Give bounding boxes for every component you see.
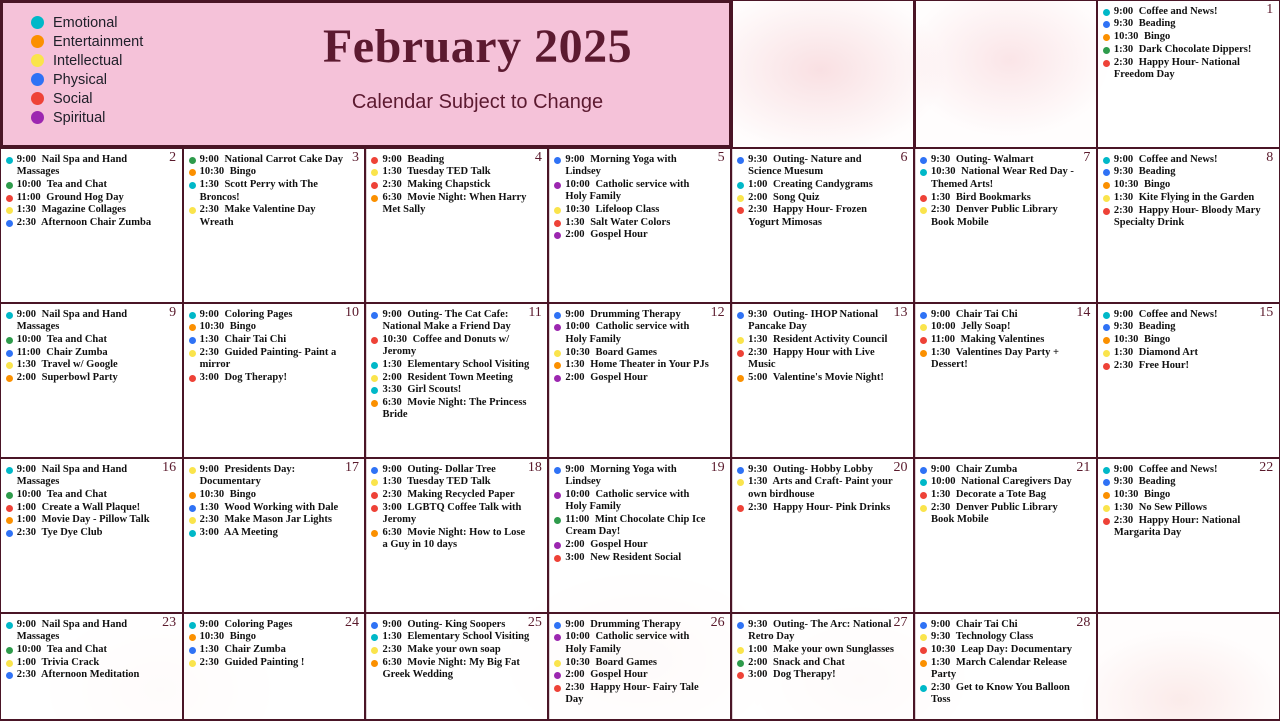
event-category-dot-icon: [1103, 208, 1110, 215]
calendar-event[interactable]: 2:30 Happy Hour- Pink Drinks: [736, 502, 909, 514]
calendar-day-cell[interactable]: 89:00 Coffee and News!9:30 Beading10:30 …: [1096, 147, 1280, 305]
event-time: 1:30: [200, 334, 219, 345]
calendar-event[interactable]: 1:30 Kite Flying in the Garden: [1102, 192, 1275, 204]
event-text: 2:30 Happy Hour: National Margarita Day: [1114, 515, 1261, 540]
calendar-day-cell[interactable]: 159:00 Coffee and News!9:30 Beading10:30…: [1096, 302, 1280, 460]
event-category-dot-icon: [371, 400, 378, 407]
calendar-day-cell[interactable]: 229:00 Coffee and News!9:30 Beading10:30…: [1096, 457, 1280, 615]
calendar-event[interactable]: 2:30 Make Mason Jar Lights: [188, 514, 361, 526]
calendar-event[interactable]: 2:30 Get to Know You Balloon Toss: [919, 682, 1092, 707]
calendar-day-cell[interactable]: 119:00 Outing- The Cat Cafe: National Ma…: [364, 302, 549, 460]
calendar-event[interactable]: 9:00 Coloring Pages: [188, 309, 361, 321]
event-title: Making Valentines: [961, 334, 1045, 345]
calendar-event[interactable]: 1:00 Creating Candygrams: [736, 179, 909, 191]
calendar-event[interactable]: 9:00 Drumming Therapy: [553, 309, 726, 321]
calendar-event[interactable]: 9:30 Beading: [1102, 18, 1275, 30]
event-text: 2:00 Resident Town Meeting: [382, 372, 529, 384]
event-category-dot-icon: [6, 337, 13, 344]
calendar-day-cell[interactable]: 99:00 Nail Spa and Hand Massages10:00 Te…: [0, 302, 184, 460]
calendar-event[interactable]: 3:00 Dog Therapy!: [736, 669, 909, 681]
calendar-event[interactable]: 9:00 Chair Zumba: [919, 464, 1092, 476]
calendar-event[interactable]: 2:30 Denver Public Library Book Mobile: [919, 502, 1092, 527]
calendar-event[interactable]: 10:30 Bingo: [188, 166, 361, 178]
calendar-event[interactable]: 2:30 Guided Painting- Paint a mirror: [188, 347, 361, 372]
event-title: Coffee and News!: [1139, 154, 1218, 165]
calendar-event[interactable]: 3:00 New Resident Social: [553, 552, 726, 564]
calendar-event[interactable]: 9:00 Nail Spa and Hand Massages: [5, 464, 178, 489]
calendar-event[interactable]: 10:30 Board Games: [553, 347, 726, 359]
calendar-event[interactable]: 10:00 Tea and Chat: [5, 334, 178, 346]
calendar-event[interactable]: 10:30 Bingo: [188, 631, 361, 643]
day-event-list: 9:00 Morning Yoga with Lindsey10:00 Cath…: [553, 154, 726, 242]
event-title: Diamond Art: [1139, 347, 1198, 358]
event-time: 1:30: [565, 217, 584, 228]
calendar-event[interactable]: 9:00 Outing- King Soopers: [370, 619, 543, 631]
legend-item-emotional: Emotional: [31, 13, 246, 32]
event-time: 2:30: [1114, 57, 1133, 68]
event-title: Resident Activity Council: [773, 334, 887, 345]
event-time: 10:30: [1114, 179, 1139, 190]
event-title: Bird Bookmarks: [956, 192, 1031, 203]
calendar-event[interactable]: 9:30 Outing- Walmart: [919, 154, 1092, 166]
calendar-event[interactable]: 1:30 Arts and Craft- Paint your own bird…: [736, 476, 909, 501]
calendar-event[interactable]: 10:30 Lifeloop Class: [553, 204, 726, 216]
calendar-event[interactable]: 6:30 Movie Night: How to Lose a Guy in 1…: [370, 527, 543, 552]
calendar-event[interactable]: 10:00 Catholic service with Holy Family: [553, 489, 726, 514]
calendar-event[interactable]: 9:30 Outing- Hobby Lobby: [736, 464, 909, 476]
event-time: 9:00: [382, 154, 401, 165]
calendar-event[interactable]: 1:30 Salt Water Colors: [553, 217, 726, 229]
calendar-event[interactable]: 9:00 Coloring Pages: [188, 619, 361, 631]
event-text: 2:00 Gospel Hour: [565, 229, 712, 241]
calendar-event[interactable]: 1:30 Bird Bookmarks: [919, 192, 1092, 204]
event-category-dot-icon: [554, 492, 561, 499]
calendar-event[interactable]: 1:30 Tuesday TED Talk: [370, 166, 543, 178]
calendar-event[interactable]: 10:30 National Wear Red Day - Themed Art…: [919, 166, 1092, 191]
event-text: 9:00 Nail Spa and Hand Massages: [17, 309, 164, 334]
event-title: Outing- Dollar Tree: [407, 464, 495, 475]
calendar-event[interactable]: 9:00 Drumming Therapy: [553, 619, 726, 631]
event-text: 9:00 Outing- King Soopers: [382, 619, 529, 631]
event-category-dot-icon: [554, 517, 561, 524]
calendar-event[interactable]: 11:00 Mint Chocolate Chip Ice Cream Day!: [553, 514, 726, 539]
event-time: 10:30: [565, 657, 590, 668]
event-category-dot-icon: [1103, 492, 1110, 499]
event-time: 9:00: [17, 619, 36, 630]
calendar-event[interactable]: 2:30 Guided Painting !: [188, 657, 361, 669]
event-title: Elementary School Visiting: [407, 359, 529, 370]
calendar-day-cell[interactable]: 249:00 Coloring Pages10:30 Bingo1:30 Cha…: [182, 612, 367, 721]
event-title: Bingo: [230, 166, 256, 177]
calendar-event[interactable]: 2:00 Song Quiz: [736, 192, 909, 204]
event-text: 10:00 Catholic service with Holy Family: [565, 321, 712, 346]
event-title: Drumming Therapy: [590, 309, 681, 320]
day-event-list: 9:30 Outing- Nature and Science Muesum1:…: [736, 154, 909, 229]
day-event-list: 9:00 Coloring Pages10:30 Bingo1:30 Chair…: [188, 619, 361, 670]
event-category-dot-icon: [1103, 467, 1110, 474]
calendar-event[interactable]: 1:30 Elementary School Visiting: [370, 631, 543, 643]
event-text: 1:30 Elementary School Visiting: [382, 631, 529, 643]
day-event-list: 9:00 Coffee and News!9:30 Beading10:30 B…: [1102, 6, 1275, 82]
event-category-dot-icon: [737, 622, 744, 629]
calendar-event[interactable]: 6:30 Movie Night: My Big Fat Greek Weddi…: [370, 657, 543, 682]
calendar-event[interactable]: 10:30 Bingo: [188, 489, 361, 501]
calendar-event[interactable]: 9:00 Coffee and News!: [1102, 309, 1275, 321]
calendar-event[interactable]: 6:30 Movie Night: When Harry Met Sally: [370, 192, 543, 217]
calendar-event[interactable]: 9:30 Technology Class: [919, 631, 1092, 643]
event-time: 2:30: [382, 644, 401, 655]
calendar-event[interactable]: 9:00 Morning Yoga with Lindsey: [553, 464, 726, 489]
event-category-dot-icon: [371, 647, 378, 654]
calendar-event[interactable]: 1:30 Dark Chocolate Dippers!: [1102, 44, 1275, 56]
event-text: 10:30 Coffee and Donuts w/ Jeromy: [382, 334, 529, 359]
event-text: 3:00 LGBTQ Coffee Talk with Jeromy: [382, 502, 529, 527]
event-category-dot-icon: [189, 157, 196, 164]
event-title: Afternoon Meditation: [41, 669, 139, 680]
event-text: 1:30 Wood Working with Dale: [200, 502, 347, 514]
event-time: 2:00: [565, 229, 584, 240]
day-number: 9: [169, 305, 176, 320]
calendar-event[interactable]: 1:30 Magazine Collages: [5, 204, 178, 216]
event-title: No Sew Pillows: [1139, 502, 1207, 513]
calendar-event[interactable]: 1:30 Decorate a Tote Bag: [919, 489, 1092, 501]
event-text: 10:30 Lifeloop Class: [565, 204, 712, 216]
calendar-event[interactable]: 1:30 Chair Tai Chi: [188, 334, 361, 346]
event-category-dot-icon: [737, 195, 744, 202]
calendar-event[interactable]: 1:30 No Sew Pillows: [1102, 502, 1275, 514]
calendar-cell-empty: [1096, 612, 1280, 721]
event-category-dot-icon: [371, 195, 378, 202]
event-title: Beading: [407, 154, 444, 165]
calendar-event[interactable]: 9:00 Beading: [370, 154, 543, 166]
event-category-dot-icon: [189, 505, 196, 512]
day-number: 22: [1259, 460, 1273, 475]
calendar-event[interactable]: 10:30 Bingo: [1102, 31, 1275, 43]
calendar-event[interactable]: 9:30 Beading: [1102, 166, 1275, 178]
calendar-event[interactable]: 9:00 Presidents Day: Documentary: [188, 464, 361, 489]
calendar-event[interactable]: 10:30 Board Games: [553, 657, 726, 669]
event-text: 1:30 Travel w/ Google: [17, 359, 164, 371]
calendar-event[interactable]: 3:00 LGBTQ Coffee Talk with Jeromy: [370, 502, 543, 527]
calendar-event[interactable]: 9:00 Chair Tai Chi: [919, 309, 1092, 321]
calendar-event[interactable]: 11:00 Chair Zumba: [5, 347, 178, 359]
calendar-event[interactable]: 9:00 Nail Spa and Hand Massages: [5, 619, 178, 644]
calendar-event[interactable]: 10:30 Bingo: [1102, 489, 1275, 501]
event-title: Create a Wall Plaque!: [42, 502, 140, 513]
event-category-dot-icon: [920, 312, 927, 319]
calendar-event[interactable]: 10:00 Tea and Chat: [5, 179, 178, 191]
event-category-dot-icon: [6, 622, 13, 629]
calendar-event[interactable]: 2:30 Afternoon Meditation: [5, 669, 178, 681]
event-text: 1:30 Resident Activity Council: [748, 334, 895, 346]
calendar-event[interactable]: 2:30 Make Valentine Day Wreath: [188, 204, 361, 229]
legend-color-dot-icon: [31, 54, 44, 67]
calendar-event[interactable]: 1:00 Create a Wall Plaque!: [5, 502, 178, 514]
legend-item-spiritual: Spiritual: [31, 108, 246, 127]
calendar-event[interactable]: 1:30 Wood Working with Dale: [188, 502, 361, 514]
calendar-event[interactable]: 1:30 Home Theater in Your PJs: [553, 359, 726, 371]
event-title: Bingo: [1144, 179, 1170, 190]
calendar-day-cell[interactable]: 39:00 National Carrot Cake Day10:30 Bing…: [182, 147, 367, 305]
calendar-day-cell[interactable]: 219:00 Chair Zumba10:00 National Caregiv…: [913, 457, 1098, 615]
calendar-event[interactable]: 9:30 Beading: [1102, 476, 1275, 488]
calendar-event[interactable]: 11:00 Making Valentines: [919, 334, 1092, 346]
event-title: New Resident Social: [590, 552, 681, 563]
event-time: 2:30: [1114, 205, 1133, 216]
day-event-list: 9:00 Nail Spa and Hand Massages10:00 Tea…: [5, 309, 178, 385]
event-time: 9:00: [200, 464, 219, 475]
day-number: 15: [1259, 305, 1273, 320]
event-title: Outing- IHOP National Pancake Day: [748, 309, 878, 332]
event-title: Chair Tai Chi: [956, 309, 1018, 320]
event-category-dot-icon: [189, 492, 196, 499]
calendar-event[interactable]: 3:30 Girl Scouts!: [370, 384, 543, 396]
event-text: 11:00 Ground Hog Day: [17, 192, 164, 204]
event-category-dot-icon: [1103, 363, 1110, 370]
calendar-event[interactable]: 2:30 Afternoon Chair Zumba: [5, 217, 178, 229]
calendar-event[interactable]: 10:00 Jelly Soap!: [919, 321, 1092, 333]
calendar-event[interactable]: 2:30 Making Chapstick: [370, 179, 543, 191]
event-text: 10:30 Bingo: [200, 631, 347, 643]
event-title: Free Hour!: [1139, 360, 1189, 371]
calendar-event[interactable]: 6:30 Movie Night: The Princess Bride: [370, 397, 543, 422]
calendar-event[interactable]: 10:30 Bingo: [1102, 334, 1275, 346]
calendar-event[interactable]: 9:00 Nail Spa and Hand Massages: [5, 154, 178, 179]
page-title: February 2025: [246, 17, 709, 77]
calendar-event[interactable]: 10:00 Catholic service with Holy Family: [553, 631, 726, 656]
event-category-dot-icon: [6, 195, 13, 202]
event-title: Superbowl Party: [42, 372, 118, 383]
calendar-event[interactable]: 2:30 Happy Hour- Frozen Yogurt Mimosas: [736, 204, 909, 229]
calendar-day-cell[interactable]: 139:30 Outing- IHOP National Pancake Day…: [730, 302, 915, 460]
calendar-event[interactable]: 2:30 Happy Hour with Live Music: [736, 347, 909, 372]
event-title: Beading: [1139, 476, 1176, 487]
calendar-event[interactable]: 9:00 Morning Yoga with Lindsey: [553, 154, 726, 179]
event-category-dot-icon: [6, 672, 13, 679]
event-title: Valentines Day Party + Dessert!: [931, 347, 1059, 370]
calendar-day-cell[interactable]: 19:00 Coffee and News!9:30 Beading10:30 …: [1096, 0, 1280, 149]
event-category-dot-icon: [1103, 337, 1110, 344]
calendar-event[interactable]: 9:30 Outing- Nature and Science Muesum: [736, 154, 909, 179]
event-time: 10:30: [1114, 334, 1139, 345]
event-title: Beading: [1139, 321, 1176, 332]
calendar-event[interactable]: 9:30 Beading: [1102, 321, 1275, 333]
event-title: Song Quiz: [773, 192, 819, 203]
event-time: 3:00: [565, 552, 584, 563]
calendar-event[interactable]: 2:30 Happy Hour- National Freedom Day: [1102, 57, 1275, 82]
event-title: Leap Day: Documentary: [961, 644, 1072, 655]
calendar-day-cell[interactable]: 279:30 Outing- The Arc: National Retro D…: [730, 612, 915, 721]
calendar-event[interactable]: 2:00 Superbowl Party: [5, 372, 178, 384]
calendar-event[interactable]: 2:00 Resident Town Meeting: [370, 372, 543, 384]
calendar-event[interactable]: 1:30 Scott Perry with The Broncos!: [188, 179, 361, 204]
calendar-event[interactable]: 2:00 Gospel Hour: [553, 539, 726, 551]
event-title: Coffee and News!: [1139, 309, 1218, 320]
event-text: 2:30 Guided Painting !: [200, 657, 347, 669]
legend-item-label: Emotional: [53, 15, 117, 31]
calendar-event[interactable]: 9:00 Outing- The Cat Cafe: National Make…: [370, 309, 543, 334]
calendar-event[interactable]: 1:00 Trivia Crack: [5, 657, 178, 669]
event-category-dot-icon: [737, 647, 744, 654]
calendar-event[interactable]: 10:30 Leap Day: Documentary: [919, 644, 1092, 656]
calendar-day-cell[interactable]: 189:00 Outing- Dollar Tree1:30 Tuesday T…: [364, 457, 549, 615]
calendar-day-cell[interactable]: 29:00 Nail Spa and Hand Massages10:00 Te…: [0, 147, 184, 305]
event-time: 9:30: [748, 464, 767, 475]
event-category-dot-icon: [6, 467, 13, 474]
event-time: 2:30: [1114, 360, 1133, 371]
calendar-event[interactable]: 9:00 Chair Tai Chi: [919, 619, 1092, 631]
calendar-day-cell[interactable]: 129:00 Drumming Therapy10:00 Catholic se…: [547, 302, 732, 460]
calendar-day-cell[interactable]: 69:30 Outing- Nature and Science Muesum1…: [730, 147, 915, 305]
event-time: 1:30: [1114, 502, 1133, 513]
event-title: Make your own soap: [407, 644, 500, 655]
event-category-dot-icon: [737, 505, 744, 512]
event-time: 9:30: [931, 154, 950, 165]
calendar-event[interactable]: 2:30 Tye Dye Club: [5, 527, 178, 539]
calendar-event[interactable]: 2:30 Making Recycled Paper: [370, 489, 543, 501]
event-category-dot-icon: [554, 220, 561, 227]
calendar-event[interactable]: 9:00 Coffee and News!: [1102, 464, 1275, 476]
calendar-event[interactable]: 10:00 Tea and Chat: [5, 644, 178, 656]
calendar-event[interactable]: 10:00 Tea and Chat: [5, 489, 178, 501]
calendar-day-cell[interactable]: 289:00 Chair Tai Chi9:30 Technology Clas…: [913, 612, 1098, 721]
calendar-event[interactable]: 1:30 Elementary School Visiting: [370, 359, 543, 371]
calendar-event[interactable]: 1:30 Diamond Art: [1102, 347, 1275, 359]
calendar-day-cell[interactable]: 59:00 Morning Yoga with Lindsey10:00 Cat…: [547, 147, 732, 305]
event-title: Guided Painting !: [224, 657, 304, 668]
calendar-event[interactable]: 2:30 Denver Public Library Book Mobile: [919, 204, 1092, 229]
event-title: Ground Hog Day: [46, 192, 123, 203]
calendar-event[interactable]: 9:00 Coffee and News!: [1102, 154, 1275, 166]
event-category-dot-icon: [920, 622, 927, 629]
event-text: 1:30 Salt Water Colors: [565, 217, 712, 229]
event-title: Movie Night: My Big Fat Greek Wedding: [382, 657, 519, 680]
calendar-event[interactable]: 1:30 Travel w/ Google: [5, 359, 178, 371]
event-category-dot-icon: [6, 492, 13, 499]
event-category-dot-icon: [371, 660, 378, 667]
calendar-event[interactable]: 1:30 Tuesday TED Talk: [370, 476, 543, 488]
calendar-event[interactable]: 1:30 March Calendar Release Party: [919, 657, 1092, 682]
event-text: 1:00 Trivia Crack: [17, 657, 164, 669]
day-number: 10: [345, 305, 359, 320]
event-title: Outing- Walmart: [956, 154, 1034, 165]
calendar-event[interactable]: 10:00 Catholic service with Holy Family: [553, 179, 726, 204]
event-text: 9:00 Beading: [382, 154, 529, 166]
calendar-event[interactable]: 2:00 Snack and Chat: [736, 657, 909, 669]
event-time: 2:30: [17, 527, 36, 538]
event-text: 9:30 Beading: [1114, 18, 1261, 30]
calendar-event[interactable]: 3:00 Dog Therapy!: [188, 372, 361, 384]
event-category-dot-icon: [6, 350, 13, 357]
calendar-event[interactable]: 10:30 Coffee and Donuts w/ Jeromy: [370, 334, 543, 359]
calendar-day-cell[interactable]: 109:00 Coloring Pages10:30 Bingo1:30 Cha…: [182, 302, 367, 460]
calendar-event[interactable]: 3:00 AA Meeting: [188, 527, 361, 539]
calendar-event[interactable]: 2:30 Make your own soap: [370, 644, 543, 656]
calendar-day-cell[interactable]: 169:00 Nail Spa and Hand Massages10:00 T…: [0, 457, 184, 615]
day-number: 11: [528, 305, 541, 320]
calendar-event[interactable]: 1:30 Valentines Day Party + Dessert!: [919, 347, 1092, 372]
calendar-event[interactable]: 9:00 Nail Spa and Hand Massages: [5, 309, 178, 334]
calendar-event[interactable]: 5:00 Valentine's Movie Night!: [736, 372, 909, 384]
event-time: 9:30: [748, 309, 767, 320]
event-time: 9:00: [565, 309, 584, 320]
event-time: 1:30: [17, 204, 36, 215]
calendar-day-cell[interactable]: 239:00 Nail Spa and Hand Massages10:00 T…: [0, 612, 184, 721]
day-event-list: 9:30 Outing- Walmart10:30 National Wear …: [919, 154, 1092, 229]
calendar-event[interactable]: 2:30 Happy Hour: National Margarita Day: [1102, 515, 1275, 540]
event-category-dot-icon: [554, 362, 561, 369]
calendar-day-cell[interactable]: 179:00 Presidents Day: Documentary10:30 …: [182, 457, 367, 615]
calendar-event[interactable]: 2:30 Free Hour!: [1102, 360, 1275, 372]
calendar-event[interactable]: 10:30 Bingo: [188, 321, 361, 333]
event-title: Get to Know You Balloon Toss: [931, 682, 1070, 705]
event-category-dot-icon: [554, 232, 561, 239]
event-time: 1:30: [382, 359, 401, 370]
event-time: 6:30: [382, 397, 401, 408]
calendar-day-cell[interactable]: 209:30 Outing- Hobby Lobby1:30 Arts and …: [730, 457, 915, 615]
event-category-dot-icon: [371, 157, 378, 164]
event-time: 10:30: [565, 204, 590, 215]
day-number: 2: [169, 150, 176, 165]
calendar-event[interactable]: 2:30 Happy Hour- Fairy Tale Day: [553, 682, 726, 707]
calendar-day-cell[interactable]: 49:00 Beading1:30 Tuesday TED Talk2:30 M…: [364, 147, 549, 305]
calendar-event[interactable]: 10:00 National Caregivers Day: [919, 476, 1092, 488]
event-title: Bingo: [230, 631, 256, 642]
event-category-dot-icon: [1103, 34, 1110, 41]
event-category-dot-icon: [737, 157, 744, 164]
calendar-event[interactable]: 1:30 Chair Zumba: [188, 644, 361, 656]
calendar-event[interactable]: 10:30 Bingo: [1102, 179, 1275, 191]
event-text: 9:00 Coloring Pages: [200, 309, 347, 321]
calendar-day-cell[interactable]: 259:00 Outing- King Soopers1:30 Elementa…: [364, 612, 549, 721]
event-time: 10:00: [931, 321, 956, 332]
calendar-event[interactable]: 9:00 National Carrot Cake Day: [188, 154, 361, 166]
calendar-event[interactable]: 2:00 Gospel Hour: [553, 229, 726, 241]
event-category-dot-icon: [189, 182, 196, 189]
calendar-day-cell[interactable]: 149:00 Chair Tai Chi10:00 Jelly Soap!11:…: [913, 302, 1098, 460]
calendar-event[interactable]: 11:00 Ground Hog Day: [5, 192, 178, 204]
calendar-event[interactable]: 10:00 Catholic service with Holy Family: [553, 321, 726, 346]
event-text: 1:30 Elementary School Visiting: [382, 359, 529, 371]
event-category-dot-icon: [1103, 324, 1110, 331]
day-number: 16: [162, 460, 176, 475]
event-text: 2:30 Afternoon Meditation: [17, 669, 164, 681]
calendar-event[interactable]: 1:00 Movie Day - Pillow Talk: [5, 514, 178, 526]
calendar-event[interactable]: 1:30 Resident Activity Council: [736, 334, 909, 346]
calendar-day-cell[interactable]: 199:00 Morning Yoga with Lindsey10:00 Ca…: [547, 457, 732, 615]
event-time: 9:00: [931, 309, 950, 320]
calendar-event[interactable]: 2:00 Gospel Hour: [553, 372, 726, 384]
calendar-day-cell[interactable]: 79:30 Outing- Walmart10:30 National Wear…: [913, 147, 1098, 305]
day-number: 4: [535, 150, 542, 165]
event-text: 2:30 Denver Public Library Book Mobile: [931, 204, 1078, 229]
calendar-event[interactable]: 9:00 Outing- Dollar Tree: [370, 464, 543, 476]
event-title: Drumming Therapy: [590, 619, 681, 630]
event-time: 10:00: [17, 489, 42, 500]
calendar-event[interactable]: 9:00 Coffee and News!: [1102, 6, 1275, 18]
event-time: 9:00: [17, 464, 36, 475]
calendar-event[interactable]: 9:30 Outing- The Arc: National Retro Day: [736, 619, 909, 644]
calendar-event[interactable]: 1:00 Make your own Sunglasses: [736, 644, 909, 656]
calendar-event[interactable]: 2:30 Happy Hour- Bloody Mary Specialty D…: [1102, 205, 1275, 230]
day-event-list: 9:30 Outing- The Arc: National Retro Day…: [736, 619, 909, 682]
calendar-day-cell[interactable]: 269:00 Drumming Therapy10:00 Catholic se…: [547, 612, 732, 721]
day-event-list: 9:00 Presidents Day: Documentary10:30 Bi…: [188, 464, 361, 540]
event-time: 1:30: [382, 631, 401, 642]
calendar-event[interactable]: 2:00 Gospel Hour: [553, 669, 726, 681]
calendar-event[interactable]: 9:30 Outing- IHOP National Pancake Day: [736, 309, 909, 334]
event-title: Magazine Collages: [42, 204, 126, 215]
